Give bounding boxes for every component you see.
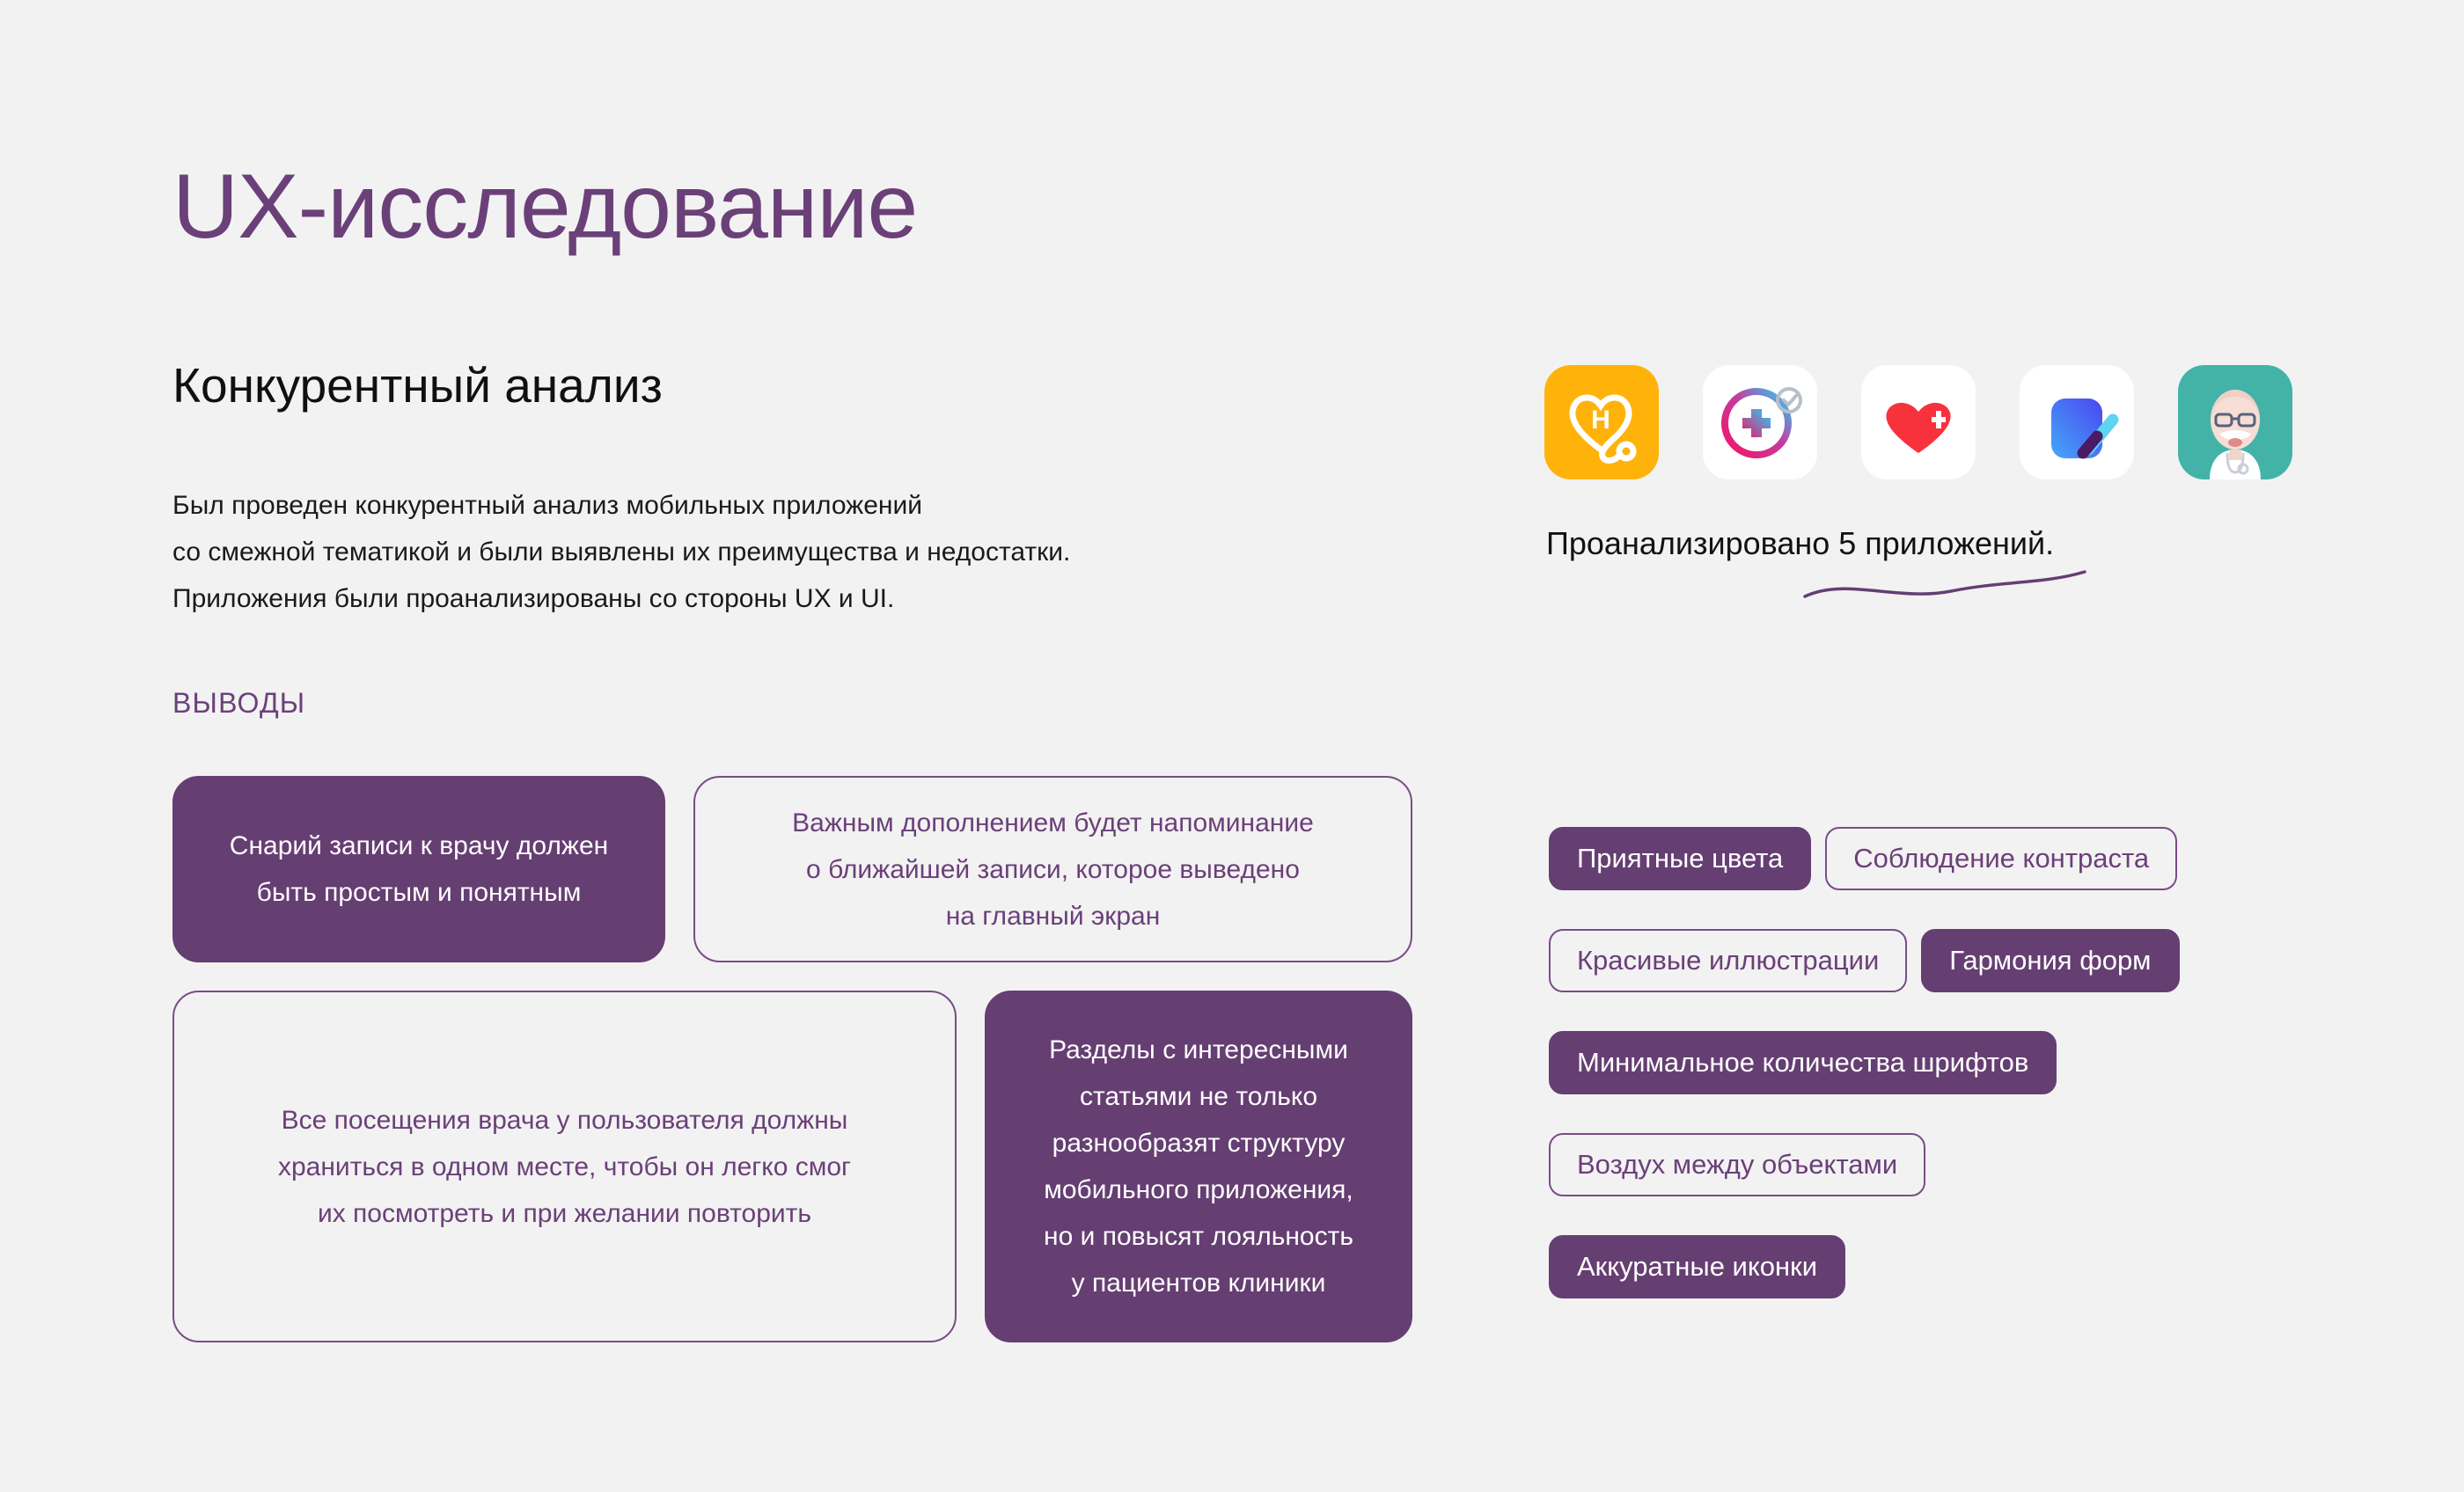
analyzed-apps-caption-wrap: Проанализировано 5 приложений. <box>1546 524 2215 562</box>
card-line: разнообразят структуру <box>1044 1120 1353 1167</box>
card-line: Снарий записи к врачу должен <box>230 823 608 869</box>
card-line: Важным дополнением будет напоминание <box>792 800 1314 846</box>
card-line: о ближайшей записи, которое выведено <box>792 846 1314 893</box>
card-line: на главный экран <box>792 893 1314 940</box>
blue-note-pen-icon <box>2020 365 2134 479</box>
ui-tag-whitespace[interactable]: Воздух между объектами <box>1549 1133 1925 1196</box>
card-line: у пациентов клиники <box>1044 1260 1353 1306</box>
svg-text:H: H <box>1591 406 1610 435</box>
card-line: Разделы с интересными <box>1044 1027 1353 1073</box>
intro-line-3: Приложения были проанализированы со стор… <box>172 575 1070 622</box>
card-line: мобильного приложения, <box>1044 1167 1353 1213</box>
intro-line-1: Был проведен конкурентный анализ мобильн… <box>172 482 1070 529</box>
heart-stethoscope-h-icon: H <box>1544 365 1659 479</box>
card-line: но и повысят лояльность <box>1044 1213 1353 1260</box>
intro-paragraph: Был проведен конкурентный анализ мобильн… <box>172 482 1070 622</box>
conclusion-card-3: Все посещения врача у пользователя должн… <box>172 991 957 1342</box>
slide-root: UX-исследование Конкурентный анализ Был … <box>0 0 2464 1492</box>
conclusion-card-2-text: Важным дополнением будет напоминание о б… <box>792 800 1314 940</box>
ui-tag-pleasant-colors[interactable]: Приятные цвета <box>1549 827 1811 890</box>
findings-label: ВЫВОДЫ <box>172 687 305 720</box>
squiggle-underline-icon <box>1801 568 2092 603</box>
red-heart-plus-icon <box>1861 365 1976 479</box>
doctor-avatar-icon <box>2178 365 2292 479</box>
card-line: Все посещения врача у пользователя должн… <box>278 1097 851 1144</box>
gradient-cross-circle-icon <box>1703 365 1817 479</box>
analyzed-apps-row: H <box>1544 365 2292 479</box>
card-line: статьями не только <box>1044 1073 1353 1120</box>
intro-line-2: со смежной тематикой и были выявлены их … <box>172 529 1070 575</box>
conclusion-card-4: Разделы с интересными статьями не только… <box>985 991 1412 1342</box>
conclusion-card-3-text: Все посещения врача у пользователя должн… <box>278 1097 851 1237</box>
conclusion-card-4-text: Разделы с интересными статьями не только… <box>1044 1027 1353 1306</box>
section-title: Конкурентный анализ <box>172 358 663 413</box>
ui-tag-harmony-of-forms[interactable]: Гармония форм <box>1921 929 2179 992</box>
ui-tags-group: Приятные цвета Соблюдение контраста Крас… <box>1549 827 2341 1298</box>
ui-tag-contrast[interactable]: Соблюдение контраста <box>1825 827 2177 890</box>
analyzed-apps-caption: Проанализировано 5 приложений. <box>1546 524 2215 562</box>
conclusion-card-1-text: Снарий записи к врачу должен быть просты… <box>230 823 608 916</box>
card-line: храниться в одном месте, чтобы он легко … <box>278 1144 851 1190</box>
page-title: UX-исследование <box>172 157 917 257</box>
ui-tag-minimal-fonts[interactable]: Минимальное количества шрифтов <box>1549 1031 2057 1094</box>
ui-tag-neat-icons[interactable]: Аккуратные иконки <box>1549 1235 1845 1298</box>
card-line: быть простым и понятным <box>230 869 608 916</box>
conclusion-card-2: Важным дополнением будет напоминание о б… <box>693 776 1412 962</box>
ui-tag-illustrations[interactable]: Красивые иллюстрации <box>1549 929 1907 992</box>
conclusion-card-1: Снарий записи к врачу должен быть просты… <box>172 776 665 962</box>
card-line: их посмотреть и при желании повторить <box>278 1190 851 1237</box>
